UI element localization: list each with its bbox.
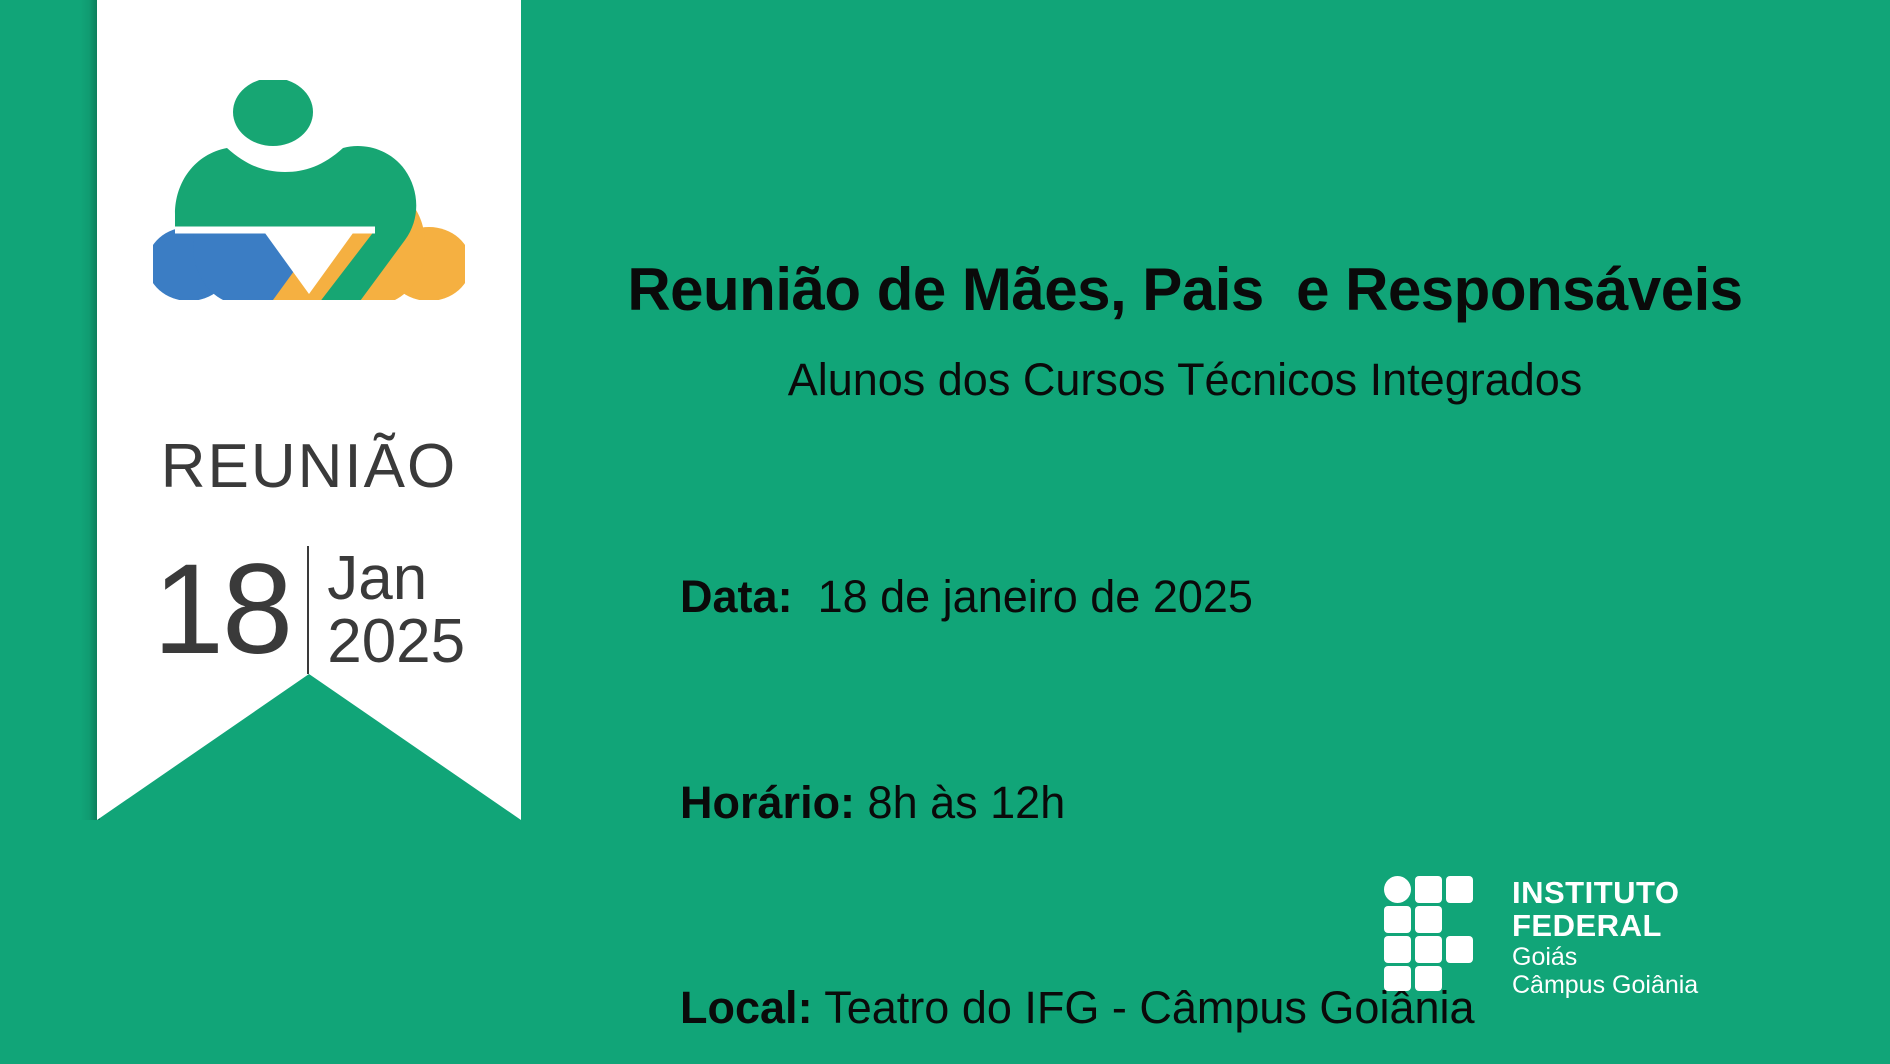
- event-title: Reunião de Mães, Pais e Responsáveis: [560, 258, 1810, 321]
- detail-value-data: 18 de janeiro de 2025: [793, 571, 1253, 622]
- event-subtitle: Alunos dos Cursos Técnicos Integrados: [560, 355, 1810, 405]
- ifg-campus-name: Câmpus Goiânia: [1512, 971, 1812, 1000]
- detail-row-data: Data: 18 de janeiro de 2025: [580, 495, 1830, 700]
- poster-canvas: REUNIÃO 18 Jan 2025 Reunião de Mães, Pai…: [0, 0, 1890, 1064]
- ifg-institute-name: INSTITUTO FEDERAL: [1512, 876, 1812, 943]
- detail-label-horario: Horário:: [680, 777, 855, 828]
- ifg-state-name: Goiás: [1512, 943, 1812, 972]
- date-ribbon: REUNIÃO 18 Jan 2025: [97, 0, 521, 820]
- ribbon-body: REUNIÃO 18 Jan 2025: [97, 0, 521, 820]
- ribbon-year: 2025: [327, 610, 465, 673]
- detail-value-local: Teatro do IFG - Câmpus Goiânia: [813, 982, 1475, 1033]
- ribbon-date: 18 Jan 2025: [97, 540, 521, 680]
- detail-label-data: Data:: [680, 571, 793, 622]
- ribbon-day: 18: [153, 546, 307, 674]
- detail-label-local: Local:: [680, 982, 813, 1033]
- ribbon-month-year: Jan 2025: [309, 547, 465, 673]
- ifg-logo: INSTITUTO FEDERAL Goiás Câmpus Goiânia: [1384, 876, 1804, 996]
- ifg-grid-mark: [1384, 876, 1488, 991]
- ribbon-title: REUNIÃO: [97, 436, 521, 498]
- detail-value-horario: 8h às 12h: [855, 777, 1065, 828]
- ifg-logo-text: INSTITUTO FEDERAL Goiás Câmpus Goiânia: [1512, 876, 1812, 1000]
- three-people-collaboration-icon: [153, 80, 465, 300]
- ribbon-month: Jan: [327, 547, 465, 610]
